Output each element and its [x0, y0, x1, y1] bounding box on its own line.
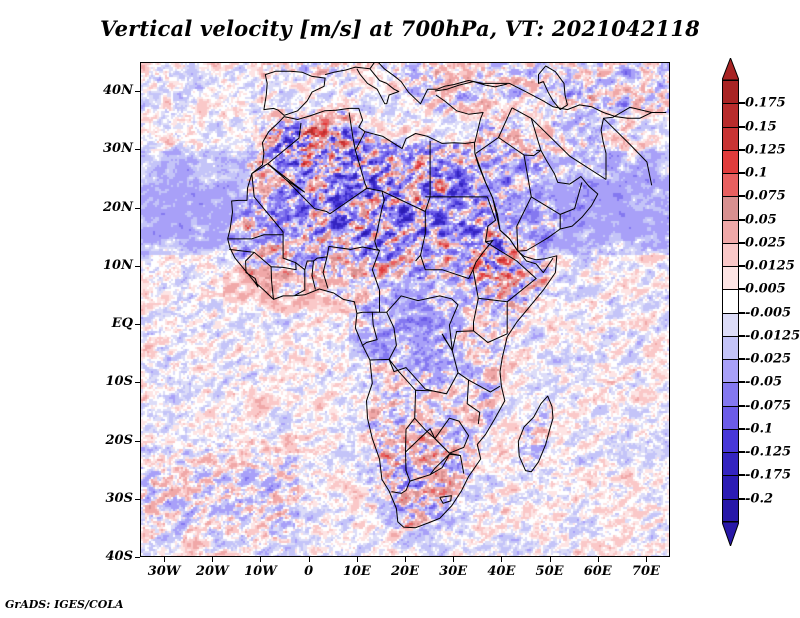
national-border [349, 113, 353, 139]
national-border [287, 138, 368, 214]
x-axis-tick [260, 557, 261, 562]
colorbar-label-7: 0.0125 [745, 259, 795, 274]
y-axis-label-40N: 40N [95, 83, 133, 98]
colorbar-band-11 [722, 336, 739, 359]
national-border [486, 242, 537, 334]
colorbar-band-13 [722, 382, 739, 405]
national-border [440, 496, 452, 504]
x-axis-tick [405, 557, 406, 562]
colorbar-tick [739, 381, 745, 383]
colorbar-tick [739, 149, 745, 151]
colorbar-label-2: 0.125 [745, 142, 786, 157]
y-axis-label-20N: 20N [95, 200, 133, 215]
x-axis-tick [212, 557, 213, 562]
colorbar-label-0: 0.175 [745, 96, 786, 111]
colorbar-tick [739, 451, 745, 453]
colorbar-tick [739, 335, 745, 337]
national-border [517, 197, 532, 251]
map-plot-area [140, 62, 670, 557]
coastline-path [436, 95, 483, 142]
y-axis-tick [135, 149, 140, 150]
national-border [410, 454, 461, 481]
coastline-path [475, 150, 598, 251]
national-border [467, 380, 480, 424]
colorbar-label-6: 0.025 [745, 235, 786, 250]
colorbar-band-14 [722, 406, 739, 429]
map-frame [140, 62, 670, 557]
national-border [435, 418, 469, 453]
colorbar-band-15 [722, 429, 739, 452]
y-axis-tick [135, 266, 140, 267]
colorbar-band-6 [722, 220, 739, 243]
x-axis-tick [598, 557, 599, 562]
y-axis-label-10N: 10N [95, 258, 133, 273]
y-axis-tick [135, 499, 140, 500]
national-border [283, 235, 296, 263]
x-axis-tick [501, 557, 502, 562]
colorbar-label-10: -0.0125 [745, 328, 800, 343]
national-border [499, 138, 541, 156]
colorbar-label-3: 0.1 [745, 166, 768, 181]
y-axis-tick [135, 441, 140, 442]
colorbar-band-7 [722, 243, 739, 266]
grads-plot-page: Vertical velocity [m/s] at 700hPa, VT: 2… [0, 0, 800, 618]
y-axis-label-30N: 30N [95, 141, 133, 156]
colorbar-tick [739, 219, 745, 221]
y-axis-tick [135, 382, 140, 383]
national-border [604, 118, 652, 185]
colorbar-label-9: -0.005 [745, 305, 791, 320]
national-border [246, 252, 259, 287]
colorbar-label-14: -0.1 [745, 421, 773, 436]
x-axis-label-0: 0 [284, 564, 334, 579]
colorbar [722, 80, 739, 522]
y-axis-label-10S: 10S [95, 374, 133, 389]
colorbar-label-12: -0.05 [745, 375, 782, 390]
colorbar-label-16: -0.175 [745, 468, 791, 483]
national-border [372, 241, 379, 312]
national-border [389, 359, 432, 391]
colorbar-band-17 [722, 475, 739, 498]
national-border [312, 257, 327, 290]
colorbar-label-8: 0.005 [745, 282, 786, 297]
y-axis-label-20S: 20S [95, 433, 133, 448]
coastline-path [539, 66, 568, 110]
colorbar-label-4: 0.075 [745, 189, 786, 204]
x-axis-label-10W: 10W [235, 564, 285, 579]
colorbar-label-5: 0.05 [745, 212, 777, 227]
national-border [367, 188, 384, 241]
coastline-overlay [141, 63, 670, 557]
colorbar-band-12 [722, 359, 739, 382]
national-border [355, 132, 365, 151]
colorbar-tick [739, 195, 745, 197]
x-axis-label-10E: 10E [332, 564, 382, 579]
x-axis-label-60E: 60E [573, 564, 623, 579]
x-axis-label-30E: 30E [428, 564, 478, 579]
colorbar-band-4 [722, 173, 739, 196]
y-axis-label-EQ: EQ [95, 316, 133, 331]
national-border [476, 108, 512, 154]
x-axis-tick [646, 557, 647, 562]
colorbar-label-15: -0.125 [745, 445, 791, 460]
y-axis-label-40S: 40S [95, 549, 133, 564]
x-axis-label-40E: 40E [476, 564, 526, 579]
x-axis-tick [164, 557, 165, 562]
national-border [406, 429, 435, 452]
colorbar-cap-bottom-arrow [722, 522, 739, 544]
colorbar-band-2 [722, 127, 739, 150]
colorbar-label-17: -0.2 [745, 491, 773, 506]
x-axis-tick [453, 557, 454, 562]
x-axis-label-70E: 70E [621, 564, 671, 579]
colorbar-tick [739, 474, 745, 476]
colorbar-band-18 [722, 499, 739, 522]
x-axis-label-20E: 20E [380, 564, 430, 579]
colorbar-band-10 [722, 313, 739, 336]
national-border [421, 197, 496, 279]
national-border [512, 108, 541, 151]
coastline-path [519, 252, 553, 272]
national-border [357, 312, 397, 359]
coastline-path [264, 71, 325, 115]
coastline-path [357, 69, 399, 104]
national-border [252, 123, 301, 174]
y-axis-tick [135, 91, 140, 92]
y-axis-tick [135, 208, 140, 209]
national-border [228, 174, 283, 239]
national-border [415, 373, 464, 474]
colorbar-tick [739, 498, 745, 500]
colorbar-tick [739, 242, 745, 244]
y-axis-tick [135, 557, 140, 558]
x-axis-label-30W: 30W [139, 564, 189, 579]
colorbar-band-5 [722, 196, 739, 219]
colorbar-cap-top-arrow [722, 58, 739, 80]
coastline-path [518, 396, 553, 472]
footer-credit: GrADS: IGES/COLA [5, 598, 124, 611]
national-border [392, 418, 415, 493]
colorbar-tick [739, 405, 745, 407]
national-border [382, 191, 425, 261]
national-border [524, 155, 582, 214]
national-border [474, 298, 508, 342]
page-title: Vertical velocity [m/s] at 700hPa, VT: 2… [0, 16, 800, 41]
x-axis-label-20W: 20W [187, 564, 237, 579]
national-border [268, 164, 305, 193]
colorbar-tick [739, 312, 745, 314]
x-axis-label-50E: 50E [525, 564, 575, 579]
colorbar-band-0 [722, 80, 739, 103]
national-border [473, 270, 507, 302]
national-border [531, 118, 606, 179]
colorbar-tick [739, 172, 745, 174]
y-axis-tick [135, 324, 140, 325]
coastline-path [325, 63, 666, 118]
colorbar-band-1 [722, 103, 739, 126]
colorbar-tick [739, 358, 745, 360]
x-axis-tick [309, 557, 310, 562]
national-border [425, 141, 430, 212]
colorbar-tick [739, 126, 745, 128]
colorbar-tick [739, 102, 745, 104]
national-border [323, 246, 379, 288]
colorbar-label-11: -0.025 [745, 352, 791, 367]
national-border [363, 312, 378, 345]
colorbar-band-9 [722, 289, 739, 312]
colorbar-band-8 [722, 266, 739, 289]
colorbar-tick [739, 265, 745, 267]
national-border [271, 263, 305, 300]
colorbar-tick [739, 288, 745, 290]
x-axis-tick [550, 557, 551, 562]
colorbar-band-16 [722, 452, 739, 475]
colorbar-tick [739, 428, 745, 430]
national-border [370, 359, 416, 390]
national-border [295, 261, 314, 295]
colorbar-label-1: 0.15 [745, 119, 777, 134]
y-axis-label-30S: 30S [95, 491, 133, 506]
colorbar-label-13: -0.075 [745, 398, 791, 413]
colorbar-band-3 [722, 150, 739, 173]
x-axis-tick [357, 557, 358, 562]
